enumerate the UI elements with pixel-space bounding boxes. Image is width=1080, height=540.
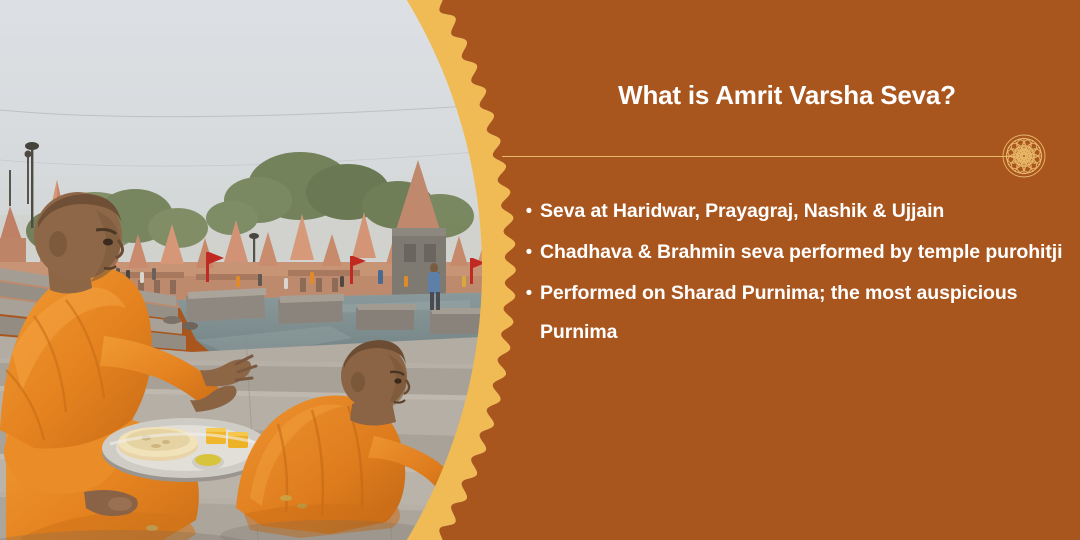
bullet-text: Chadhava & Brahmin seva performed by tem… (540, 233, 1066, 272)
bullet-marker-icon: • (518, 192, 540, 231)
page-title: What is Amrit Varsha Seva? (537, 80, 1037, 111)
list-item: •Chadhava & Brahmin seva performed by te… (518, 233, 1066, 272)
list-item: •Performed on Sharad Purnima; the most a… (518, 274, 1066, 352)
ghat-photograph (0, 0, 500, 540)
bullet-list: •Seva at Haridwar, Prayagraj, Nashik & U… (518, 192, 1066, 354)
content-panel: What is Amrit Varsha Seva? •Seva at Hari… (500, 0, 1080, 540)
slide-root: What is Amrit Varsha Seva? •Seva at Hari… (0, 0, 1080, 540)
mandala-rosette-icon (1000, 132, 1048, 180)
photo-illustration (0, 0, 500, 540)
title-divider (502, 156, 1018, 157)
list-item: •Seva at Haridwar, Prayagraj, Nashik & U… (518, 192, 1066, 231)
bullet-marker-icon: • (518, 233, 540, 272)
bullet-text: Seva at Haridwar, Prayagraj, Nashik & Uj… (540, 192, 1066, 231)
bullet-marker-icon: • (518, 274, 540, 313)
bullet-text: Performed on Sharad Purnima; the most au… (540, 274, 1066, 352)
mandala-svg (1000, 132, 1048, 180)
